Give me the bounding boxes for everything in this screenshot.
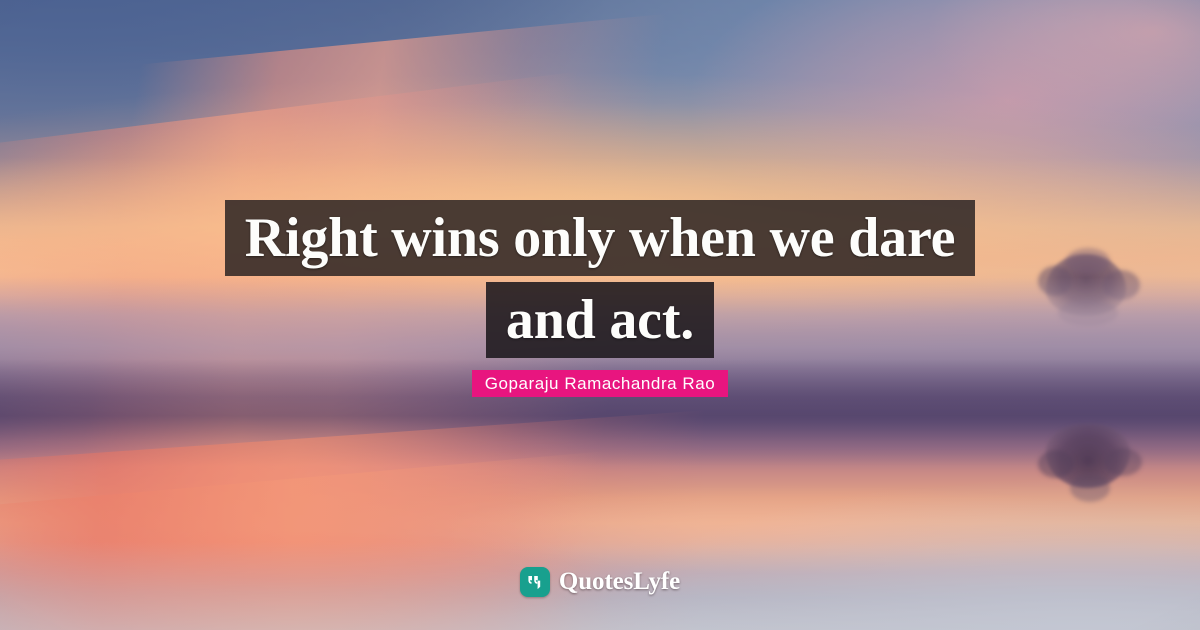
quote-line-2: and act. bbox=[486, 282, 714, 358]
quote-line-1: Right wins only when we dare bbox=[225, 200, 976, 276]
author-attribution: Goparaju Ramachandra Rao bbox=[0, 370, 1200, 397]
quote-mark-icon bbox=[520, 567, 550, 597]
quote-row-2: and act. bbox=[0, 282, 1200, 358]
brand-name: QuotesLyfe bbox=[559, 569, 680, 595]
brand-logo[interactable]: QuotesLyfe bbox=[0, 567, 1200, 597]
author-name-badge: Goparaju Ramachandra Rao bbox=[472, 370, 729, 397]
quote-row-1: Right wins only when we dare bbox=[0, 200, 1200, 276]
quote-block: Right wins only when we dare and act. bbox=[0, 200, 1200, 358]
quote-card: Right wins only when we dare and act. Go… bbox=[0, 0, 1200, 630]
